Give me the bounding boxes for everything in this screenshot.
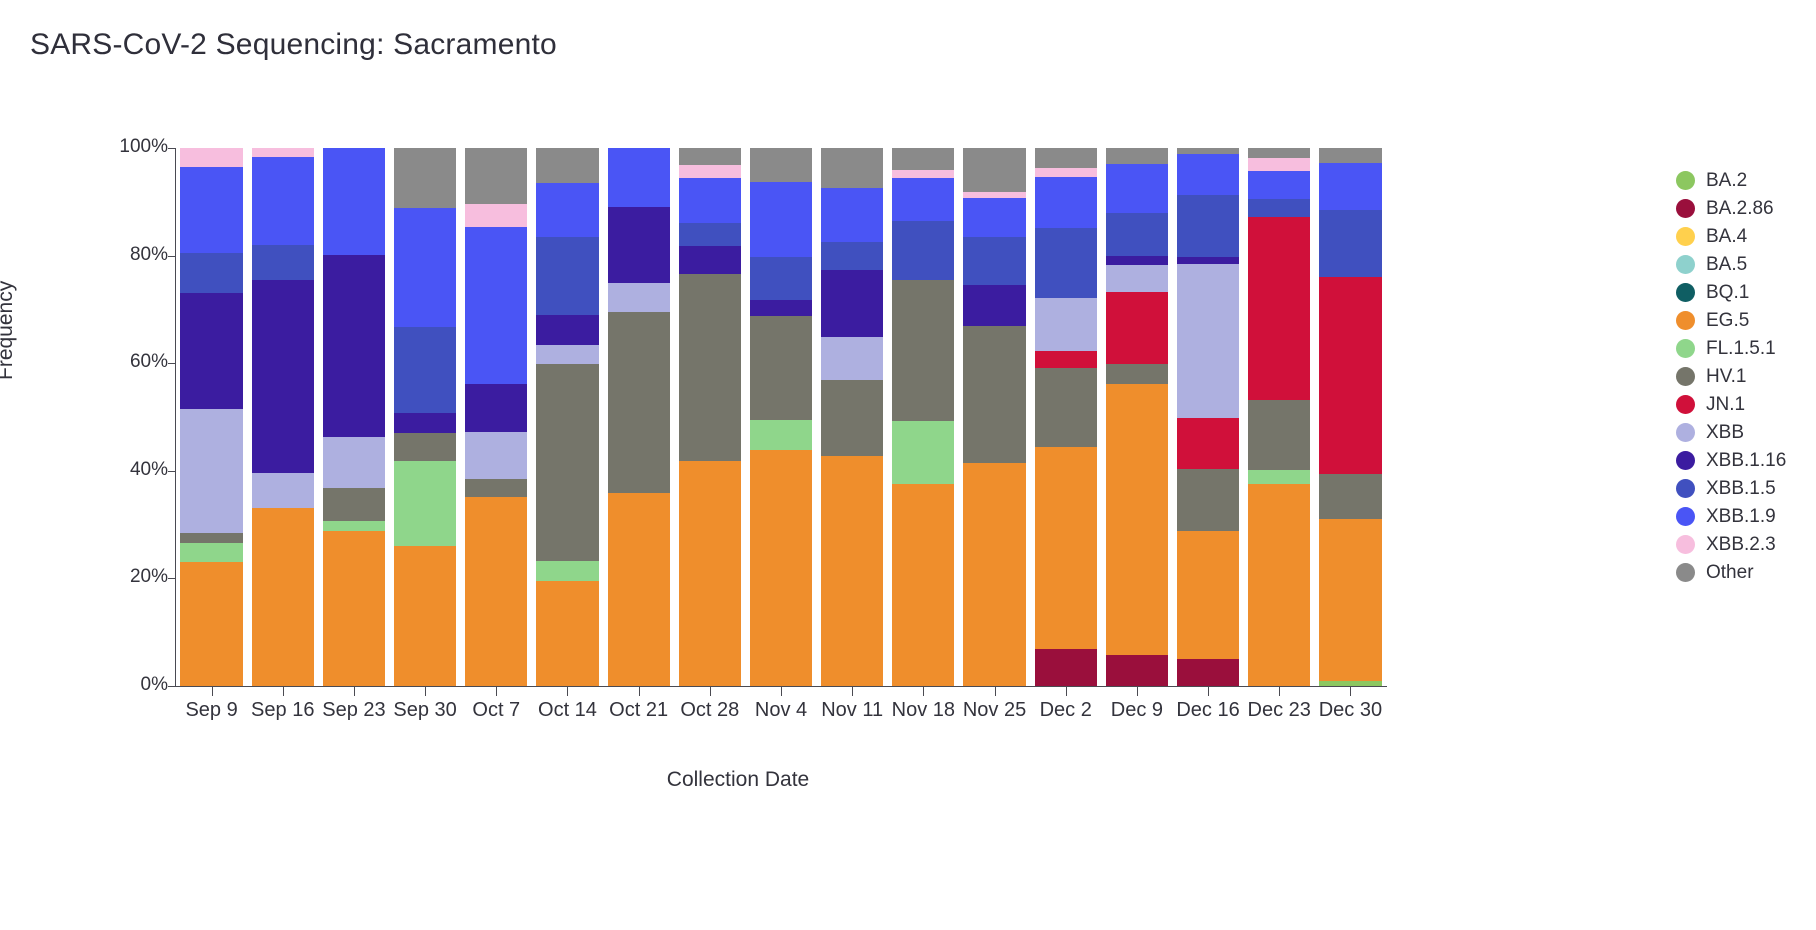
bar-segment[interactable] — [892, 484, 954, 686]
x-tick-mark — [781, 687, 782, 696]
legend-item[interactable]: BA.2 — [1676, 168, 1786, 193]
bar-segment[interactable] — [252, 148, 314, 157]
x-tick-label: Oct 7 — [472, 699, 520, 722]
bar-segment[interactable] — [180, 562, 242, 686]
bar-column[interactable] — [1319, 148, 1381, 686]
x-tick-label: Dec 30 — [1319, 699, 1382, 722]
x-tick-label: Sep 9 — [185, 699, 237, 722]
bar-segment[interactable] — [1248, 484, 1310, 686]
bar-segment[interactable] — [394, 327, 456, 413]
x-tick-mark — [639, 687, 640, 696]
bar-column[interactable] — [180, 148, 242, 686]
bar-segment[interactable] — [1248, 400, 1310, 470]
bar-segment[interactable] — [465, 204, 527, 227]
bar-segment[interactable] — [1106, 213, 1168, 256]
x-tick-label: Dec 16 — [1176, 699, 1239, 722]
x-tick-mark — [425, 687, 426, 696]
bar-segment[interactable] — [1248, 217, 1310, 399]
bar-segment[interactable] — [252, 473, 314, 508]
legend-item-label: XBB.1.9 — [1706, 506, 1776, 528]
bar-segment[interactable] — [323, 437, 385, 488]
legend-item-label: XBB.1.5 — [1706, 478, 1776, 500]
legend-swatch-icon — [1676, 451, 1695, 470]
y-tick-mark — [168, 363, 175, 364]
y-axis-title: Frequency — [0, 281, 18, 380]
bar-column[interactable] — [252, 148, 314, 686]
bar-segment[interactable] — [180, 533, 242, 544]
bar-segment[interactable] — [963, 198, 1025, 237]
x-tick-label: Nov 4 — [755, 699, 807, 722]
legend-swatch-icon — [1676, 255, 1695, 274]
bar-segment[interactable] — [892, 421, 954, 484]
bar-segment[interactable] — [536, 315, 598, 345]
y-tick-mark — [168, 578, 175, 579]
legend-swatch-icon — [1676, 311, 1695, 330]
y-tick-label: 100% — [119, 136, 168, 158]
bar-segment[interactable] — [465, 479, 527, 497]
bars-container — [176, 148, 1386, 686]
bar-segment[interactable] — [1035, 447, 1097, 649]
bar-segment[interactable] — [821, 270, 883, 337]
bar-segment[interactable] — [180, 167, 242, 253]
bar-segment[interactable] — [1106, 256, 1168, 265]
x-tick-label: Sep 16 — [251, 699, 314, 722]
bar-segment[interactable] — [536, 345, 598, 364]
bar-segment[interactable] — [323, 531, 385, 686]
legend-item-label: BA.2.86 — [1706, 198, 1774, 220]
bar-segment[interactable] — [323, 148, 385, 255]
y-tick-mark — [168, 148, 175, 149]
x-tick-mark — [1208, 687, 1209, 696]
x-tick-label: Sep 23 — [322, 699, 385, 722]
bar-segment[interactable] — [1177, 418, 1239, 469]
legend-item[interactable]: HV.1 — [1676, 364, 1786, 389]
x-tick-mark — [212, 687, 213, 696]
bar-segment[interactable] — [1106, 265, 1168, 292]
bar-segment[interactable] — [1177, 154, 1239, 195]
bar-segment[interactable] — [323, 521, 385, 531]
bar-segment[interactable] — [608, 283, 670, 311]
legend-item-label: BA.5 — [1706, 254, 1747, 276]
bar-segment[interactable] — [180, 148, 242, 167]
bar-segment[interactable] — [608, 148, 670, 207]
legend-swatch-icon — [1676, 339, 1695, 358]
bar-segment[interactable] — [180, 253, 242, 293]
bar-segment[interactable] — [394, 433, 456, 462]
x-tick-mark — [1137, 687, 1138, 696]
legend-item-label: BQ.1 — [1706, 282, 1749, 304]
bar-segment[interactable] — [679, 148, 741, 165]
bar-column[interactable] — [323, 148, 385, 686]
legend-item[interactable]: XBB.1.9 — [1676, 504, 1786, 529]
bar-column[interactable] — [1248, 148, 1310, 686]
bar-segment[interactable] — [536, 148, 598, 183]
legend-item-label: HV.1 — [1706, 366, 1747, 388]
bar-segment[interactable] — [608, 312, 670, 493]
bar-segment[interactable] — [394, 461, 456, 546]
y-tick-mark — [168, 686, 175, 687]
legend-swatch-icon — [1676, 423, 1695, 442]
legend-item-label: Other — [1706, 562, 1754, 584]
bar-segment[interactable] — [892, 221, 954, 280]
bar-segment[interactable] — [750, 182, 812, 257]
bar-segment[interactable] — [1177, 531, 1239, 659]
bar-segment[interactable] — [821, 456, 883, 686]
legend-swatch-icon — [1676, 535, 1695, 554]
bar-segment[interactable] — [1035, 228, 1097, 298]
legend-item[interactable]: XBB.1.16 — [1676, 448, 1786, 473]
legend-item[interactable]: BA.2.86 — [1676, 196, 1786, 221]
legend-swatch-icon — [1676, 563, 1695, 582]
legend-item[interactable]: BQ.1 — [1676, 280, 1786, 305]
bar-segment[interactable] — [821, 242, 883, 270]
bar-segment[interactable] — [252, 508, 314, 686]
bar-segment[interactable] — [1035, 351, 1097, 368]
bar-segment[interactable] — [608, 493, 670, 686]
bar-segment[interactable] — [465, 432, 527, 479]
bar-segment[interactable] — [394, 148, 456, 208]
bar-segment[interactable] — [608, 207, 670, 283]
bar-segment[interactable] — [963, 463, 1025, 686]
x-axis-title-text: Collection Date — [667, 768, 809, 791]
bar-segment[interactable] — [536, 581, 598, 686]
y-tick-label: 80% — [130, 244, 168, 266]
bar-segment[interactable] — [394, 208, 456, 326]
x-tick-label: Oct 28 — [680, 699, 739, 722]
bar-segment[interactable] — [892, 178, 954, 221]
bar-segment[interactable] — [679, 223, 741, 246]
bar-segment[interactable] — [1248, 158, 1310, 171]
bar-segment[interactable] — [465, 384, 527, 432]
bar-column[interactable] — [963, 148, 1025, 686]
bar-segment[interactable] — [1319, 210, 1381, 277]
chart-page: SARS-CoV-2 Sequencing: Sacramento Freque… — [0, 0, 1816, 930]
bar-segment[interactable] — [821, 148, 883, 188]
legend-item-label: XBB — [1706, 422, 1744, 444]
legend-item[interactable]: XBB.1.5 — [1676, 476, 1786, 501]
bar-segment[interactable] — [536, 364, 598, 560]
bar-segment[interactable] — [1035, 298, 1097, 352]
bar-column[interactable] — [1106, 148, 1168, 686]
y-tick-label: 20% — [130, 566, 168, 588]
bar-segment[interactable] — [252, 245, 314, 280]
page-title: SARS-CoV-2 Sequencing: Sacramento — [30, 28, 557, 62]
bar-segment[interactable] — [323, 488, 385, 521]
bar-column[interactable] — [394, 148, 456, 686]
bar-segment[interactable] — [1035, 148, 1097, 168]
bar-segment[interactable] — [1319, 681, 1381, 686]
bar-segment[interactable] — [465, 148, 527, 204]
legend-item-label: BA.2 — [1706, 170, 1747, 192]
bar-column[interactable] — [608, 148, 670, 686]
x-tick-label: Nov 11 — [821, 699, 883, 722]
legend-swatch-icon — [1676, 479, 1695, 498]
y-tick-label: 0% — [141, 674, 168, 696]
bar-segment[interactable] — [536, 237, 598, 316]
bar-segment[interactable] — [1177, 469, 1239, 531]
bar-column[interactable] — [679, 148, 741, 686]
legend-swatch-icon — [1676, 171, 1695, 190]
x-tick-label: Sep 30 — [393, 699, 456, 722]
x-tick-mark — [1350, 687, 1351, 696]
x-tick-mark — [710, 687, 711, 696]
legend-item-label: EG.5 — [1706, 310, 1749, 332]
bar-segment[interactable] — [679, 178, 741, 223]
bar-segment[interactable] — [892, 148, 954, 170]
bar-segment[interactable] — [679, 274, 741, 460]
bar-segment[interactable] — [963, 237, 1025, 285]
bar-column[interactable] — [1177, 148, 1239, 686]
bar-segment[interactable] — [892, 280, 954, 421]
bar-segment[interactable] — [750, 316, 812, 420]
bar-segment[interactable] — [180, 543, 242, 562]
bar-column[interactable] — [821, 148, 883, 686]
x-axis-title: Collection Date — [0, 768, 1816, 792]
x-tick-label: Nov 18 — [892, 699, 955, 722]
bar-segment[interactable] — [821, 380, 883, 455]
bar-segment[interactable] — [1319, 277, 1381, 474]
x-tick-mark — [496, 687, 497, 696]
legend-item[interactable]: BA.5 — [1676, 252, 1786, 277]
bar-segment[interactable] — [536, 561, 598, 581]
bar-segment[interactable] — [1106, 364, 1168, 383]
bar-segment[interactable] — [750, 257, 812, 300]
bar-segment[interactable] — [1319, 163, 1381, 210]
x-tick-mark — [354, 687, 355, 696]
bar-segment[interactable] — [1319, 148, 1381, 163]
bar-segment[interactable] — [536, 183, 598, 237]
bar-segment[interactable] — [1248, 470, 1310, 485]
bar-segment[interactable] — [750, 148, 812, 182]
bar-segment[interactable] — [750, 420, 812, 451]
legend-swatch-icon — [1676, 367, 1695, 386]
bar-segment[interactable] — [750, 300, 812, 316]
bar-segment[interactable] — [1035, 177, 1097, 228]
bar-segment[interactable] — [963, 285, 1025, 325]
legend-item[interactable]: FL.1.5.1 — [1676, 336, 1786, 361]
bar-segment[interactable] — [323, 255, 385, 437]
legend-item-label: JN.1 — [1706, 394, 1745, 416]
x-tick-label: Nov 25 — [963, 699, 1026, 722]
bar-column[interactable] — [750, 148, 812, 686]
bar-column[interactable] — [465, 148, 527, 686]
x-tick-label: Oct 21 — [609, 699, 668, 722]
bar-segment[interactable] — [1106, 164, 1168, 212]
legend-swatch-icon — [1676, 227, 1695, 246]
bar-segment[interactable] — [679, 461, 741, 686]
legend-item[interactable]: BA.4 — [1676, 224, 1786, 249]
bar-segment[interactable] — [1248, 148, 1310, 158]
x-tick-mark — [923, 687, 924, 696]
y-tick-label: 60% — [130, 351, 168, 373]
bar-segment[interactable] — [465, 497, 527, 686]
bar-segment[interactable] — [679, 165, 741, 177]
bar-segment[interactable] — [1177, 264, 1239, 417]
y-tick-label: 40% — [130, 459, 168, 481]
legend-item[interactable]: JN.1 — [1676, 392, 1786, 417]
bar-segment[interactable] — [180, 293, 242, 409]
x-tick-mark — [567, 687, 568, 696]
bar-segment[interactable] — [180, 409, 242, 533]
x-tick-label: Oct 14 — [538, 699, 597, 722]
bar-segment[interactable] — [1248, 171, 1310, 198]
x-tick-label: Dec 23 — [1248, 699, 1311, 722]
x-tick-mark — [1066, 687, 1067, 696]
bar-segment[interactable] — [1106, 292, 1168, 365]
bar-column[interactable] — [892, 148, 954, 686]
legend-item-label: BA.4 — [1706, 226, 1747, 248]
bar-segment[interactable] — [821, 337, 883, 380]
x-tick-mark — [283, 687, 284, 696]
bar-segment[interactable] — [1177, 659, 1239, 686]
x-tick-label: Dec 2 — [1040, 699, 1092, 722]
bar-segment[interactable] — [465, 227, 527, 384]
bar-segment[interactable] — [1035, 649, 1097, 686]
legend-swatch-icon — [1676, 283, 1695, 302]
legend-item[interactable]: XBB.2.3 — [1676, 532, 1786, 557]
legend-item-label: XBB.2.3 — [1706, 534, 1776, 556]
bar-segment[interactable] — [963, 148, 1025, 192]
bar-column[interactable] — [536, 148, 598, 686]
legend-item[interactable]: Other — [1676, 560, 1786, 585]
bar-segment[interactable] — [1248, 199, 1310, 218]
y-tick-mark — [168, 256, 175, 257]
bar-column[interactable] — [1035, 148, 1097, 686]
legend-item[interactable]: XBB — [1676, 420, 1786, 445]
legend-swatch-icon — [1676, 395, 1695, 414]
bar-segment[interactable] — [821, 188, 883, 242]
legend-item-label: XBB.1.16 — [1706, 450, 1786, 472]
plot-area — [176, 148, 1386, 686]
bar-segment[interactable] — [1106, 655, 1168, 686]
legend-item-label: FL.1.5.1 — [1706, 338, 1776, 360]
legend-item[interactable]: EG.5 — [1676, 308, 1786, 333]
bar-segment[interactable] — [1177, 195, 1239, 256]
legend-swatch-icon — [1676, 507, 1695, 526]
y-tick-mark — [168, 471, 175, 472]
legend-swatch-icon — [1676, 199, 1695, 218]
legend: BA.2BA.2.86BA.4BA.5BQ.1EG.5FL.1.5.1HV.1J… — [1676, 168, 1786, 585]
bar-segment[interactable] — [1319, 474, 1381, 519]
x-tick-label: Dec 9 — [1111, 699, 1163, 722]
bar-segment[interactable] — [394, 546, 456, 686]
bar-segment[interactable] — [1035, 368, 1097, 447]
bar-segment[interactable] — [892, 170, 954, 178]
x-tick-mark — [1279, 687, 1280, 696]
bar-segment[interactable] — [1106, 384, 1168, 655]
bar-segment[interactable] — [252, 280, 314, 473]
bar-segment[interactable] — [963, 326, 1025, 463]
bar-segment[interactable] — [252, 157, 314, 245]
x-tick-mark — [995, 687, 996, 696]
bar-segment[interactable] — [1319, 519, 1381, 680]
bar-segment[interactable] — [1177, 257, 1239, 265]
bar-segment[interactable] — [394, 413, 456, 433]
bar-segment[interactable] — [679, 246, 741, 275]
x-tick-mark — [852, 687, 853, 696]
bar-segment[interactable] — [750, 450, 812, 686]
bar-segment[interactable] — [1035, 168, 1097, 177]
bar-segment[interactable] — [1106, 148, 1168, 164]
